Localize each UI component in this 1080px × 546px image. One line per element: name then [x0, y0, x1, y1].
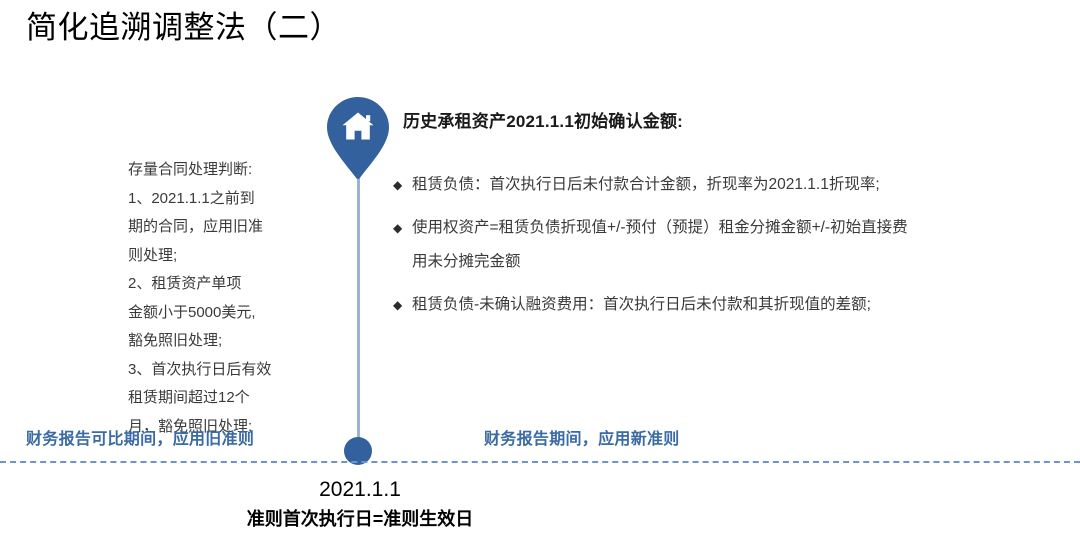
- diamond-bullet-icon: ◆: [393, 211, 412, 245]
- timeline-footer: 2021.1.1 准则首次执行日=准则生效日: [0, 475, 720, 533]
- page-title: 简化追溯调整法（二）: [26, 6, 341, 50]
- map-pin-home-icon: [327, 97, 389, 179]
- list-item-text: 使用权资产=租赁负债折现值+/-预付（预提）租金分摊金额+/-初始直接费用未分摊…: [412, 211, 923, 279]
- effective-date-caption: 准则首次执行日=准则生效日: [0, 505, 720, 533]
- reporting-period-label: 财务报告期间，应用新准则: [484, 425, 680, 449]
- diamond-bullet-icon: ◆: [393, 168, 412, 202]
- left-line: 则处理;: [128, 242, 324, 271]
- list-item-text: 租赁负债-未确认融资费用：首次执行日后未付款和其折现值的差额;: [412, 288, 923, 322]
- left-line: 金额小于5000美元,: [128, 299, 324, 328]
- left-line: 存量合同处理判断:: [128, 156, 324, 185]
- left-line: 租赁期间超过12个: [128, 384, 324, 413]
- timeline-axis: [357, 140, 360, 452]
- list-item: ◆ 使用权资产=租赁负债折现值+/-预付（预提）租金分摊金额+/-初始直接费用未…: [393, 211, 923, 279]
- list-item-text: 租赁负债：首次执行日后未付款合计金额，折现率为2021.1.1折现率;: [412, 168, 923, 202]
- initial-recognition-heading: 历史承租资产2021.1.1初始确认金额:: [403, 107, 683, 132]
- initial-recognition-bullet-list: ◆ 租赁负债：首次执行日后未付款合计金额，折现率为2021.1.1折现率; ◆ …: [393, 168, 923, 331]
- list-item: ◆ 租赁负债-未确认融资费用：首次执行日后未付款和其折现值的差额;: [393, 288, 923, 322]
- comparative-period-label: 财务报告可比期间，应用旧准则: [26, 425, 254, 449]
- legacy-contract-rules-block: 存量合同处理判断: 1、2021.1.1之前到 期的合同，应用旧准 则处理; 2…: [128, 156, 324, 441]
- left-line: 豁免照旧处理;: [128, 327, 324, 356]
- left-line: 1、2021.1.1之前到: [128, 185, 324, 214]
- diamond-bullet-icon: ◆: [393, 288, 412, 322]
- timeline-baseline: [0, 461, 1080, 463]
- left-line: 期的合同，应用旧准: [128, 213, 324, 242]
- effective-date: 2021.1.1: [0, 475, 720, 505]
- left-line: 3、首次执行日后有效: [128, 356, 324, 385]
- list-item: ◆ 租赁负债：首次执行日后未付款合计金额，折现率为2021.1.1折现率;: [393, 168, 923, 202]
- left-line: 2、租赁资产单项: [128, 270, 324, 299]
